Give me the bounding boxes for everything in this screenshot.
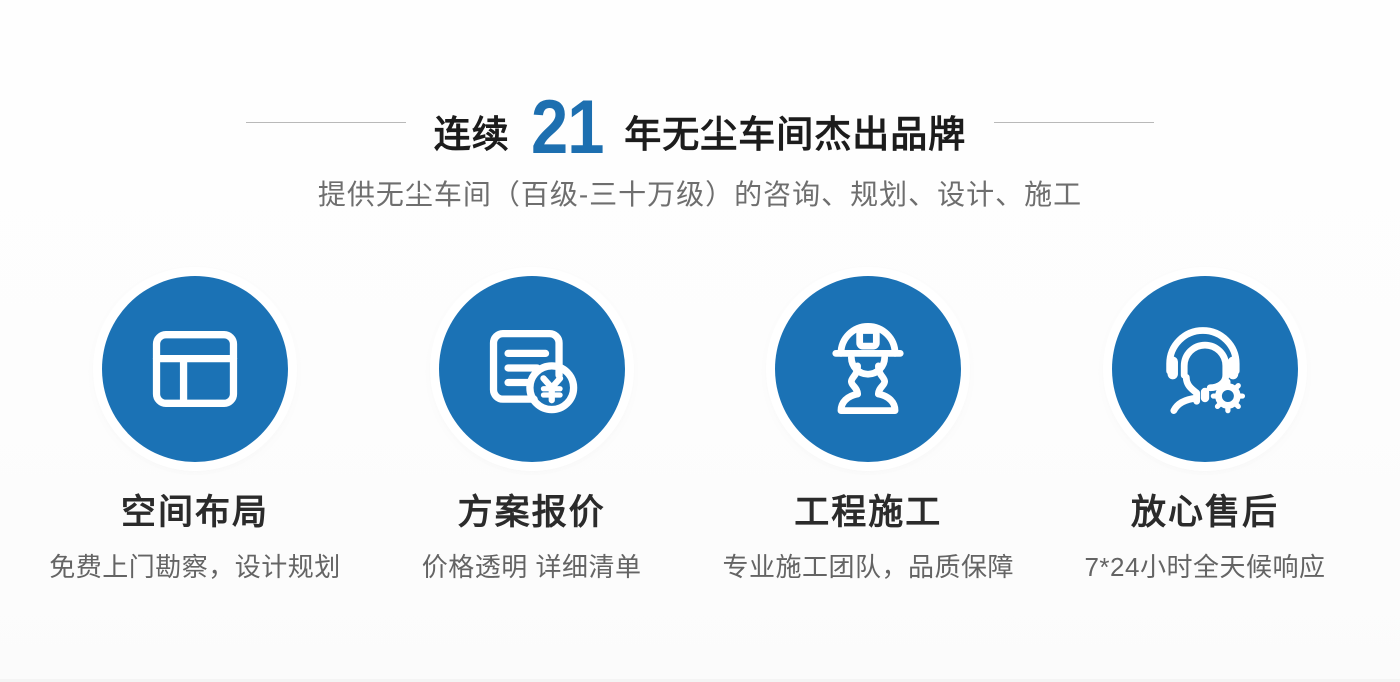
service-card-construction[interactable]: 工程施工 专业施工团队，品质保障: [711, 276, 1025, 582]
card-description: 价格透明 详细清单: [422, 553, 642, 583]
service-card-space-layout[interactable]: 空间布局 免费上门勘察，设计规划: [38, 276, 352, 582]
divider-line-left: [246, 122, 406, 123]
layout-grid-icon: [143, 317, 247, 421]
icon-badge: [775, 276, 961, 462]
promo-banner: 连续 21 年无尘车间杰出品牌 提供无尘车间（百级-三十万级）的咨询、规划、设计…: [0, 0, 1400, 682]
headline-year-number: 21: [517, 90, 618, 166]
card-title: 空间布局: [121, 494, 269, 533]
banner-header: 连续 21 年无尘车间杰出品牌 提供无尘车间（百级-三十万级）的咨询、规划、设计…: [0, 86, 1400, 212]
icon-badge: [1112, 276, 1298, 462]
card-title: 工程施工: [794, 494, 942, 533]
construction-worker-icon: [816, 317, 920, 421]
card-description: 专业施工团队，品质保障: [723, 553, 1015, 583]
service-card-after-sales[interactable]: 放心售后 7*24小时全天候响应: [1048, 276, 1362, 582]
icon-badge: [439, 276, 625, 462]
headset-support-gear-icon: [1153, 317, 1257, 421]
headline-suffix: 年无尘车间杰出品牌: [624, 116, 966, 153]
page-title: 连续 21 年无尘车间杰出品牌: [434, 84, 967, 160]
card-description: 免费上门勘察，设计规划: [49, 553, 341, 583]
card-title: 方案报价: [458, 494, 606, 533]
headline-row: 连续 21 年无尘车间杰出品牌: [0, 86, 1400, 158]
banner-subtitle: 提供无尘车间（百级-三十万级）的咨询、规划、设计、施工: [0, 178, 1400, 212]
divider-line-right: [994, 122, 1154, 123]
quote-document-yuan-icon: [480, 317, 584, 421]
icon-badge: [102, 276, 288, 462]
card-description: 7*24小时全天候响应: [1084, 553, 1325, 583]
service-card-list: 空间布局 免费上门勘察，设计规划 方案报价 价格透明 详细清单: [0, 276, 1400, 582]
service-card-quotation[interactable]: 方案报价 价格透明 详细清单: [375, 276, 689, 582]
card-title: 放心售后: [1131, 494, 1279, 533]
headline-prefix: 连续: [434, 116, 510, 153]
